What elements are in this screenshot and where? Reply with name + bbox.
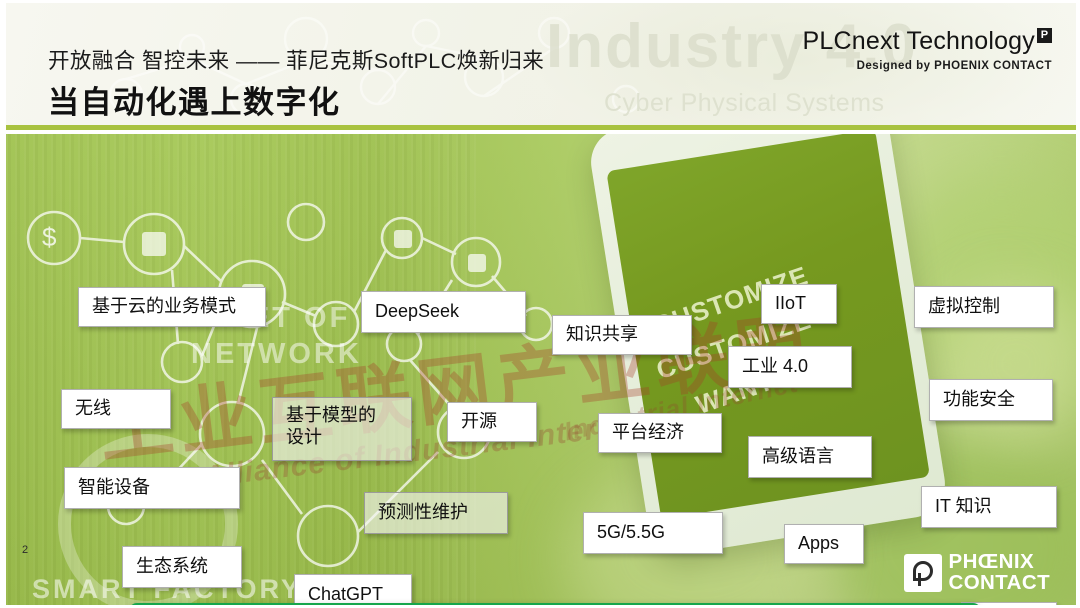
keyword-chip-label: 基于云的业务模式: [92, 296, 236, 318]
keyword-chip-model-based-design[interactable]: 基于模型的 设计: [272, 397, 412, 461]
keyword-chip-label: 开源: [461, 411, 497, 433]
keyword-chip-label: 平台经济: [612, 422, 684, 444]
page-title: 当自动化遇上数字化: [48, 77, 341, 122]
keyword-chip-label: 生态系统: [136, 556, 208, 578]
keyword-chip-label: 功能安全: [943, 389, 1015, 411]
keyword-chip-label: ChatGPT: [308, 584, 383, 605]
keyword-chip-label: 基于模型的 设计: [286, 405, 376, 447]
brand-tagline: Designed by PHOENIX CONTACT: [803, 60, 1052, 72]
keyword-chip-label: 无线: [75, 398, 111, 420]
keyword-chip-functional-safety[interactable]: 功能安全: [929, 379, 1053, 421]
keyword-chip-label: 虚拟控制: [928, 296, 1000, 318]
phoenix-logo-line2: CONTACT: [949, 573, 1051, 594]
highlight-banner: 数字工业时代——OT/IT/CT/DT技术加速融合演进: [129, 603, 981, 605]
keyword-chip-knowledge-sharing[interactable]: 知识共享: [552, 315, 692, 355]
registered-mark-icon: P: [1037, 28, 1052, 43]
brand-name: PLCnext Technology: [803, 27, 1035, 55]
keyword-chip-label: 知识共享: [566, 324, 638, 346]
slide-root: Industry 4.0 Cyber Physical Systems 开放融合…: [0, 0, 1080, 608]
keyword-chip-industry-40[interactable]: 工业 4.0: [728, 346, 852, 388]
keyword-chip-it-knowledge[interactable]: IT 知识: [921, 486, 1057, 528]
keyword-chip-open-source[interactable]: 开源: [447, 402, 537, 442]
keyword-chip-predictive-maint[interactable]: 预测性维护: [364, 492, 508, 534]
keyword-chip-label: 智能设备: [78, 477, 150, 499]
header-subtitle: 开放融合 智控未来 —— 菲尼克斯SoftPLC焕新归来: [48, 44, 544, 75]
keyword-chip-label: Apps: [798, 533, 839, 555]
phoenix-logo-line1: PHŒNIX: [949, 552, 1051, 573]
slide-image-panel: CUSTOMIZE CUSTOMIZE WANTS: [6, 134, 1076, 605]
keyword-chip-iiot[interactable]: IIoT: [761, 284, 837, 324]
plcnext-brand: PLCnext TechnologyP Designed by PHOENIX …: [803, 27, 1052, 72]
keyword-chip-cloud-business-model[interactable]: 基于云的业务模式: [78, 287, 266, 327]
slide-header: Industry 4.0 Cyber Physical Systems 开放融合…: [6, 3, 1076, 130]
keyword-chip-label: 5G/5.5G: [597, 522, 665, 544]
keyword-chip-label: 工业 4.0: [742, 356, 808, 378]
keyword-chip-label: 预测性维护: [378, 502, 468, 524]
page-number: 2: [22, 544, 28, 556]
keyword-chip-label: IIoT: [775, 293, 806, 315]
keyword-chip-wireless[interactable]: 无线: [61, 389, 171, 429]
keyword-chip-label: DeepSeek: [375, 301, 459, 323]
phoenix-contact-logo: PHŒNIX CONTACT: [904, 552, 1051, 593]
keyword-chip-label: IT 知识: [935, 496, 992, 518]
keyword-chip-apps[interactable]: Apps: [784, 524, 864, 564]
keyword-chip-virtual-control[interactable]: 虚拟控制: [914, 286, 1054, 328]
keyword-chip-deepseek[interactable]: DeepSeek: [361, 291, 526, 333]
keyword-chip-chatgpt[interactable]: ChatGPT: [294, 574, 412, 605]
keyword-chip-5g[interactable]: 5G/5.5G: [583, 512, 723, 554]
keyword-chip-advanced-language[interactable]: 高级语言: [748, 436, 872, 478]
keyword-chip-platform-economy[interactable]: 平台经济: [598, 413, 722, 453]
header-watermark-cps: Cyber Physical Systems: [604, 89, 885, 118]
keyword-chip-smart-devices[interactable]: 智能设备: [64, 467, 240, 509]
keyword-chip-label: 高级语言: [762, 446, 834, 468]
keyword-chip-ecosystem[interactable]: 生态系统: [122, 546, 242, 588]
phoenix-bird-icon: [904, 554, 942, 592]
